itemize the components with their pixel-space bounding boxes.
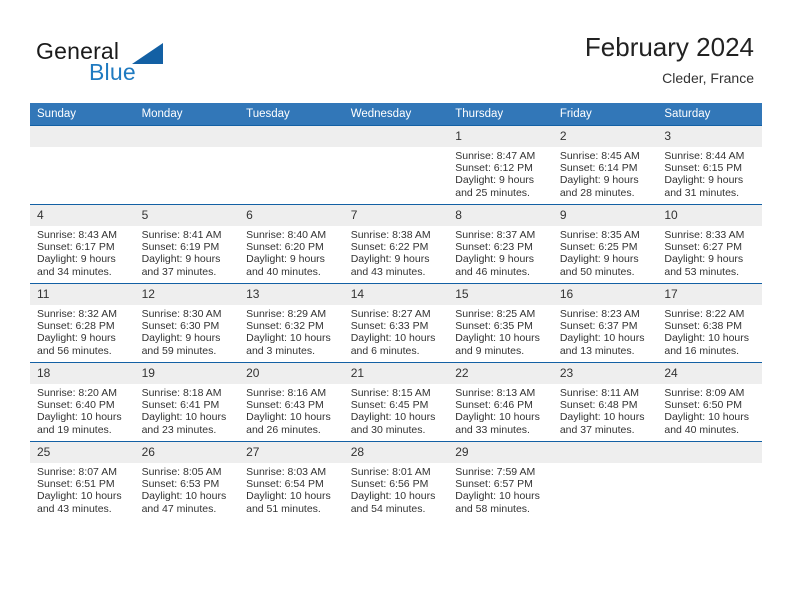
day-cell[interactable]: 18Sunrise: 8:20 AMSunset: 6:40 PMDayligh… (30, 363, 135, 442)
day-cell[interactable]: 13Sunrise: 8:29 AMSunset: 6:32 PMDayligh… (239, 284, 344, 363)
daylight-text-line2: and 28 minutes. (560, 187, 653, 199)
daylight-text-line1: Daylight: 10 hours (142, 490, 235, 502)
day-number: 29 (448, 442, 553, 463)
day-number (553, 442, 658, 463)
day-cell[interactable]: 12Sunrise: 8:30 AMSunset: 6:30 PMDayligh… (135, 284, 240, 363)
sunset-text: Sunset: 6:48 PM (560, 399, 653, 411)
weekday-header-wednesday: Wednesday (344, 103, 449, 126)
daylight-text-line2: and 40 minutes. (664, 424, 757, 436)
daylight-text-line2: and 3 minutes. (246, 345, 339, 357)
sunset-text: Sunset: 6:54 PM (246, 478, 339, 490)
day-number (657, 442, 762, 463)
sunset-text: Sunset: 6:33 PM (351, 320, 444, 332)
sunset-text: Sunset: 6:37 PM (560, 320, 653, 332)
sunrise-text: Sunrise: 8:20 AM (37, 387, 130, 399)
day-cell[interactable]: 15Sunrise: 8:25 AMSunset: 6:35 PMDayligh… (448, 284, 553, 363)
daylight-text-line2: and 30 minutes. (351, 424, 444, 436)
day-cell[interactable]: 17Sunrise: 8:22 AMSunset: 6:38 PMDayligh… (657, 284, 762, 363)
day-number: 8 (448, 205, 553, 226)
calendar-grid: Sunday Monday Tuesday Wednesday Thursday… (30, 103, 762, 520)
daylight-text-line2: and 43 minutes. (351, 266, 444, 278)
daylight-text-line2: and 53 minutes. (664, 266, 757, 278)
sunset-text: Sunset: 6:57 PM (455, 478, 548, 490)
sunset-text: Sunset: 6:20 PM (246, 241, 339, 253)
daylight-text-line1: Daylight: 9 hours (560, 174, 653, 186)
day-cell[interactable] (553, 442, 658, 521)
day-number: 27 (239, 442, 344, 463)
sunset-text: Sunset: 6:27 PM (664, 241, 757, 253)
day-cell[interactable]: 6Sunrise: 8:40 AMSunset: 6:20 PMDaylight… (239, 205, 344, 284)
daylight-text-line1: Daylight: 9 hours (664, 253, 757, 265)
day-cell[interactable]: 8Sunrise: 8:37 AMSunset: 6:23 PMDaylight… (448, 205, 553, 284)
sunset-text: Sunset: 6:15 PM (664, 162, 757, 174)
day-cell[interactable] (30, 126, 135, 205)
daylight-text-line2: and 31 minutes. (664, 187, 757, 199)
daylight-text-line2: and 9 minutes. (455, 345, 548, 357)
daylight-text-line2: and 43 minutes. (37, 503, 130, 515)
day-cell[interactable]: 4Sunrise: 8:43 AMSunset: 6:17 PMDaylight… (30, 205, 135, 284)
sunrise-text: Sunrise: 8:29 AM (246, 308, 339, 320)
day-cell[interactable]: 11Sunrise: 8:32 AMSunset: 6:28 PMDayligh… (30, 284, 135, 363)
daylight-text-line1: Daylight: 9 hours (455, 253, 548, 265)
daylight-text-line2: and 58 minutes. (455, 503, 548, 515)
sunrise-text: Sunrise: 8:44 AM (664, 150, 757, 162)
day-cell[interactable]: 5Sunrise: 8:41 AMSunset: 6:19 PMDaylight… (135, 205, 240, 284)
day-cell[interactable] (344, 126, 449, 205)
sunrise-text: Sunrise: 8:16 AM (246, 387, 339, 399)
sunrise-text: Sunrise: 8:45 AM (560, 150, 653, 162)
day-cell[interactable]: 22Sunrise: 8:13 AMSunset: 6:46 PMDayligh… (448, 363, 553, 442)
page-title: February 2024 (585, 32, 754, 62)
day-number: 10 (657, 205, 762, 226)
daylight-text-line1: Daylight: 10 hours (351, 411, 444, 423)
day-number: 9 (553, 205, 658, 226)
sunset-text: Sunset: 6:53 PM (142, 478, 235, 490)
calendar-page: General Blue February 2024 Cleder, Franc… (0, 0, 792, 612)
daylight-text-line2: and 19 minutes. (37, 424, 130, 436)
day-cell[interactable]: 20Sunrise: 8:16 AMSunset: 6:43 PMDayligh… (239, 363, 344, 442)
sunrise-text: Sunrise: 8:25 AM (455, 308, 548, 320)
day-number: 2 (553, 126, 658, 147)
day-number (344, 126, 449, 147)
day-cell[interactable]: 7Sunrise: 8:38 AMSunset: 6:22 PMDaylight… (344, 205, 449, 284)
sunrise-text: Sunrise: 7:59 AM (455, 466, 548, 478)
daylight-text-line2: and 47 minutes. (142, 503, 235, 515)
sunset-text: Sunset: 6:38 PM (664, 320, 757, 332)
sunset-text: Sunset: 6:35 PM (455, 320, 548, 332)
daylight-text-line1: Daylight: 10 hours (664, 411, 757, 423)
calendar-week-row: 1Sunrise: 8:47 AMSunset: 6:12 PMDaylight… (30, 126, 762, 205)
weekday-header-monday: Monday (135, 103, 240, 126)
day-number (239, 126, 344, 147)
daylight-text-line2: and 6 minutes. (351, 345, 444, 357)
daylight-text-line1: Daylight: 10 hours (351, 332, 444, 344)
sunset-text: Sunset: 6:45 PM (351, 399, 444, 411)
daylight-text-line1: Daylight: 10 hours (246, 490, 339, 502)
day-cell[interactable]: 21Sunrise: 8:15 AMSunset: 6:45 PMDayligh… (344, 363, 449, 442)
sunset-text: Sunset: 6:17 PM (37, 241, 130, 253)
day-number: 14 (344, 284, 449, 305)
location-subtitle: Cleder, France (585, 69, 754, 87)
day-number: 15 (448, 284, 553, 305)
day-number (30, 126, 135, 147)
calendar-week-row: 4Sunrise: 8:43 AMSunset: 6:17 PMDaylight… (30, 205, 762, 284)
sunrise-text: Sunrise: 8:30 AM (142, 308, 235, 320)
sunrise-text: Sunrise: 8:03 AM (246, 466, 339, 478)
sunrise-text: Sunrise: 8:23 AM (560, 308, 653, 320)
weekday-header-saturday: Saturday (657, 103, 762, 126)
daylight-text-line2: and 34 minutes. (37, 266, 130, 278)
day-number: 22 (448, 363, 553, 384)
daylight-text-line1: Daylight: 10 hours (246, 332, 339, 344)
day-number: 4 (30, 205, 135, 226)
sunrise-text: Sunrise: 8:27 AM (351, 308, 444, 320)
sunset-text: Sunset: 6:40 PM (37, 399, 130, 411)
daylight-text-line1: Daylight: 10 hours (351, 490, 444, 502)
day-cell[interactable]: 28Sunrise: 8:01 AMSunset: 6:56 PMDayligh… (344, 442, 449, 521)
page-header: General Blue February 2024 Cleder, Franc… (0, 0, 792, 103)
daylight-text-line1: Daylight: 9 hours (37, 253, 130, 265)
daylight-text-line2: and 54 minutes. (351, 503, 444, 515)
general-blue-logo: General Blue (36, 38, 216, 90)
daylight-text-line1: Daylight: 9 hours (246, 253, 339, 265)
sunrise-text: Sunrise: 8:38 AM (351, 229, 444, 241)
sunset-text: Sunset: 6:14 PM (560, 162, 653, 174)
daylight-text-line2: and 51 minutes. (246, 503, 339, 515)
sunrise-text: Sunrise: 8:05 AM (142, 466, 235, 478)
day-cell[interactable]: 29Sunrise: 7:59 AMSunset: 6:57 PMDayligh… (448, 442, 553, 521)
day-number: 12 (135, 284, 240, 305)
daylight-text-line1: Daylight: 10 hours (37, 490, 130, 502)
daylight-text-line1: Daylight: 10 hours (455, 332, 548, 344)
daylight-text-line1: Daylight: 9 hours (664, 174, 757, 186)
daylight-text-line2: and 16 minutes. (664, 345, 757, 357)
sunrise-text: Sunrise: 8:18 AM (142, 387, 235, 399)
day-cell[interactable] (657, 442, 762, 521)
daylight-text-line1: Daylight: 10 hours (664, 332, 757, 344)
calendar-week-row: 18Sunrise: 8:20 AMSunset: 6:40 PMDayligh… (30, 363, 762, 442)
day-number: 11 (30, 284, 135, 305)
daylight-text-line1: Daylight: 9 hours (455, 174, 548, 186)
sunrise-text: Sunrise: 8:22 AM (664, 308, 757, 320)
day-cell[interactable]: 25Sunrise: 8:07 AMSunset: 6:51 PMDayligh… (30, 442, 135, 521)
daylight-text-line2: and 26 minutes. (246, 424, 339, 436)
weekday-header-friday: Friday (553, 103, 658, 126)
sunrise-text: Sunrise: 8:33 AM (664, 229, 757, 241)
sunrise-text: Sunrise: 8:35 AM (560, 229, 653, 241)
day-number: 5 (135, 205, 240, 226)
daylight-text-line1: Daylight: 10 hours (455, 411, 548, 423)
day-number: 26 (135, 442, 240, 463)
day-number: 24 (657, 363, 762, 384)
calendar-body: 1Sunrise: 8:47 AMSunset: 6:12 PMDaylight… (30, 126, 762, 521)
day-number (135, 126, 240, 147)
day-cell[interactable]: 2Sunrise: 8:45 AMSunset: 6:14 PMDaylight… (553, 126, 658, 205)
day-cell[interactable]: 16Sunrise: 8:23 AMSunset: 6:37 PMDayligh… (553, 284, 658, 363)
sunrise-text: Sunrise: 8:41 AM (142, 229, 235, 241)
day-cell[interactable]: 10Sunrise: 8:33 AMSunset: 6:27 PMDayligh… (657, 205, 762, 284)
sunrise-text: Sunrise: 8:01 AM (351, 466, 444, 478)
sunset-text: Sunset: 6:30 PM (142, 320, 235, 332)
weekday-header-sunday: Sunday (30, 103, 135, 126)
day-cell[interactable]: 24Sunrise: 8:09 AMSunset: 6:50 PMDayligh… (657, 363, 762, 442)
daylight-text-line2: and 23 minutes. (142, 424, 235, 436)
daylight-text-line2: and 37 minutes. (142, 266, 235, 278)
sunrise-text: Sunrise: 8:47 AM (455, 150, 548, 162)
weekday-header-tuesday: Tuesday (239, 103, 344, 126)
title-block: February 2024 Cleder, France (585, 32, 754, 87)
logo-triangle-icon (132, 43, 163, 64)
weekday-header-row: Sunday Monday Tuesday Wednesday Thursday… (30, 103, 762, 126)
daylight-text-line1: Daylight: 9 hours (560, 253, 653, 265)
daylight-text-line2: and 50 minutes. (560, 266, 653, 278)
daylight-text-line2: and 37 minutes. (560, 424, 653, 436)
day-cell[interactable]: 26Sunrise: 8:05 AMSunset: 6:53 PMDayligh… (135, 442, 240, 521)
day-cell[interactable]: 27Sunrise: 8:03 AMSunset: 6:54 PMDayligh… (239, 442, 344, 521)
sunset-text: Sunset: 6:50 PM (664, 399, 757, 411)
day-number: 18 (30, 363, 135, 384)
day-number: 1 (448, 126, 553, 147)
day-cell[interactable]: 3Sunrise: 8:44 AMSunset: 6:15 PMDaylight… (657, 126, 762, 205)
daylight-text-line2: and 13 minutes. (560, 345, 653, 357)
day-number: 16 (553, 284, 658, 305)
day-number: 6 (239, 205, 344, 226)
day-cell[interactable] (135, 126, 240, 205)
sunrise-text: Sunrise: 8:07 AM (37, 466, 130, 478)
sunset-text: Sunset: 6:23 PM (455, 241, 548, 253)
day-cell[interactable]: 19Sunrise: 8:18 AMSunset: 6:41 PMDayligh… (135, 363, 240, 442)
sunset-text: Sunset: 6:22 PM (351, 241, 444, 253)
calendar-week-row: 25Sunrise: 8:07 AMSunset: 6:51 PMDayligh… (30, 442, 762, 521)
sunrise-text: Sunrise: 8:43 AM (37, 229, 130, 241)
sunrise-text: Sunrise: 8:09 AM (664, 387, 757, 399)
sunset-text: Sunset: 6:46 PM (455, 399, 548, 411)
day-cell[interactable]: 14Sunrise: 8:27 AMSunset: 6:33 PMDayligh… (344, 284, 449, 363)
day-number: 20 (239, 363, 344, 384)
sunrise-text: Sunrise: 8:15 AM (351, 387, 444, 399)
daylight-text-line1: Daylight: 10 hours (37, 411, 130, 423)
day-number: 23 (553, 363, 658, 384)
day-number: 21 (344, 363, 449, 384)
sunset-text: Sunset: 6:43 PM (246, 399, 339, 411)
daylight-text-line1: Daylight: 9 hours (37, 332, 130, 344)
calendar-week-row: 11Sunrise: 8:32 AMSunset: 6:28 PMDayligh… (30, 284, 762, 363)
sunrise-text: Sunrise: 8:32 AM (37, 308, 130, 320)
daylight-text-line2: and 33 minutes. (455, 424, 548, 436)
weekday-header-thursday: Thursday (448, 103, 553, 126)
daylight-text-line1: Daylight: 10 hours (246, 411, 339, 423)
sunrise-text: Sunrise: 8:37 AM (455, 229, 548, 241)
daylight-text-line1: Daylight: 10 hours (142, 411, 235, 423)
day-cell[interactable]: 23Sunrise: 8:11 AMSunset: 6:48 PMDayligh… (553, 363, 658, 442)
day-number: 3 (657, 126, 762, 147)
sunset-text: Sunset: 6:25 PM (560, 241, 653, 253)
daylight-text-line1: Daylight: 9 hours (142, 253, 235, 265)
daylight-text-line2: and 46 minutes. (455, 266, 548, 278)
day-cell[interactable]: 9Sunrise: 8:35 AMSunset: 6:25 PMDaylight… (553, 205, 658, 284)
daylight-text-line2: and 40 minutes. (246, 266, 339, 278)
daylight-text-line2: and 25 minutes. (455, 187, 548, 199)
sunset-text: Sunset: 6:32 PM (246, 320, 339, 332)
sunrise-text: Sunrise: 8:40 AM (246, 229, 339, 241)
daylight-text-line2: and 56 minutes. (37, 345, 130, 357)
sunset-text: Sunset: 6:28 PM (37, 320, 130, 332)
day-number: 17 (657, 284, 762, 305)
daylight-text-line1: Daylight: 9 hours (351, 253, 444, 265)
sunset-text: Sunset: 6:19 PM (142, 241, 235, 253)
day-cell[interactable]: 1Sunrise: 8:47 AMSunset: 6:12 PMDaylight… (448, 126, 553, 205)
day-number: 13 (239, 284, 344, 305)
sunrise-text: Sunrise: 8:13 AM (455, 387, 548, 399)
sunset-text: Sunset: 6:56 PM (351, 478, 444, 490)
daylight-text-line1: Daylight: 10 hours (560, 411, 653, 423)
daylight-text-line2: and 59 minutes. (142, 345, 235, 357)
day-number: 7 (344, 205, 449, 226)
day-cell[interactable] (239, 126, 344, 205)
day-number: 25 (30, 442, 135, 463)
sunset-text: Sunset: 6:12 PM (455, 162, 548, 174)
daylight-text-line1: Daylight: 10 hours (560, 332, 653, 344)
logo-text-blue: Blue (89, 59, 136, 86)
day-number: 28 (344, 442, 449, 463)
day-number: 19 (135, 363, 240, 384)
sunset-text: Sunset: 6:51 PM (37, 478, 130, 490)
daylight-text-line1: Daylight: 9 hours (142, 332, 235, 344)
sunset-text: Sunset: 6:41 PM (142, 399, 235, 411)
sunrise-text: Sunrise: 8:11 AM (560, 387, 653, 399)
daylight-text-line1: Daylight: 10 hours (455, 490, 548, 502)
